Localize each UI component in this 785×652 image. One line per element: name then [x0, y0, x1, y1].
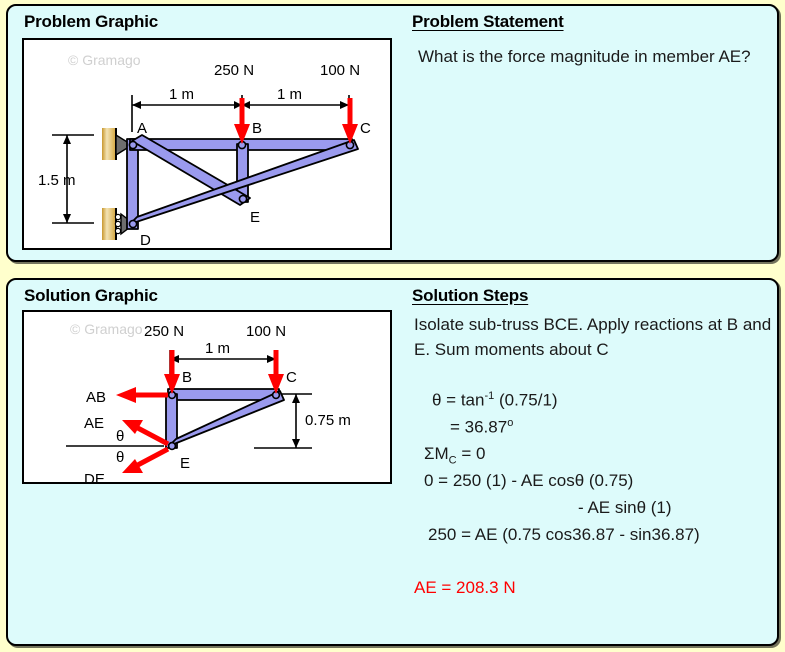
- joint-label-b: B: [252, 120, 262, 137]
- solution-steps-title: Solution Steps: [412, 286, 528, 306]
- joint-a: [129, 141, 136, 148]
- joint-label-e: E: [250, 209, 260, 226]
- equation-moment-sum: ΣMC = 0: [424, 444, 485, 466]
- watermark-solution: © Gramago: [70, 321, 143, 337]
- problem-panel: Problem Graphic Problem Statement What i…: [6, 4, 779, 262]
- joint-label-b-sub: B: [182, 369, 192, 386]
- watermark-problem: © Gramago: [68, 52, 141, 68]
- joint-label-c-sub: C: [286, 369, 297, 386]
- dim-label-1m: 1 m: [205, 340, 230, 357]
- problem-graphic-box: © Gramago 1 m 1 m: [22, 38, 392, 250]
- force-arrow-de: [122, 449, 168, 473]
- joint-label-e-sub: E: [180, 455, 190, 472]
- dim-arrow-075-down: [292, 439, 300, 448]
- problem-statement-title: Problem Statement: [412, 12, 564, 32]
- dim-label-ad: 1.5 m: [38, 172, 76, 189]
- dim-arrow-up: [63, 135, 71, 144]
- equation-moment-line1: 0 = 250 (1) - AE cosθ (0.75): [424, 471, 633, 491]
- wall-support-d: [102, 208, 116, 240]
- load-label-100n-sub: 100 N: [246, 323, 286, 340]
- solution-truss-diagram: © Gramago 1 m 0.75 m: [24, 312, 390, 482]
- dim-label-075m: 0.75 m: [305, 412, 351, 429]
- force-label-ae: AE: [84, 415, 104, 432]
- load-label-100n: 100 N: [320, 62, 360, 79]
- solution-intro-text: Isolate sub-truss BCE. Apply reactions a…: [414, 312, 774, 362]
- equation-theta-def: θ = tan-1 (0.75/1): [432, 390, 558, 411]
- joint-e: [239, 195, 246, 202]
- solution-graphic-title: Solution Graphic: [24, 286, 158, 306]
- dim-arrow-075-up: [292, 394, 300, 403]
- dim-label-bc: 1 m: [277, 86, 302, 103]
- wall-support-a: [102, 128, 116, 160]
- member-ad: [127, 139, 138, 229]
- problem-truss-diagram: © Gramago 1 m 1 m: [24, 40, 390, 248]
- angle-label-theta-upper: θ: [116, 428, 124, 445]
- page-root: Problem Graphic Problem Statement What i…: [0, 0, 785, 652]
- problem-graphic-title: Problem Graphic: [24, 12, 158, 32]
- load-label-250n-sub: 250 N: [144, 323, 184, 340]
- joint-d: [129, 220, 136, 227]
- joint-label-c: C: [360, 120, 371, 137]
- joint-label-d: D: [140, 232, 151, 248]
- equation-moment-line2: - AE sinθ (1): [578, 498, 672, 518]
- solution-answer: AE = 208.3 N: [414, 578, 516, 598]
- dim-label-ab: 1 m: [169, 86, 194, 103]
- equation-theta-value: = 36.87o: [450, 417, 513, 438]
- force-label-ab: AB: [86, 389, 106, 406]
- problem-statement-text: What is the force magnitude in member AE…: [418, 44, 773, 69]
- solution-graphic-box: © Gramago 1 m 0.75 m: [22, 310, 392, 484]
- load-label-250n: 250 N: [214, 62, 254, 79]
- angle-label-theta-lower: θ: [116, 449, 124, 466]
- joint-e-sub: [169, 443, 176, 450]
- equation-moment-line3: 250 = AE (0.75 cos36.87 - sin36.87): [428, 525, 700, 545]
- dim-arrow-down: [63, 214, 71, 223]
- joint-label-a: A: [137, 120, 147, 137]
- solution-panel: Solution Graphic Solution Steps Isolate …: [6, 278, 779, 646]
- dim-arrow-left: [132, 101, 141, 109]
- subtruss-members: [166, 389, 284, 448]
- force-arrow-ab: [116, 387, 168, 403]
- force-label-de: DE: [84, 471, 105, 482]
- force-arrow-ae: [122, 420, 168, 444]
